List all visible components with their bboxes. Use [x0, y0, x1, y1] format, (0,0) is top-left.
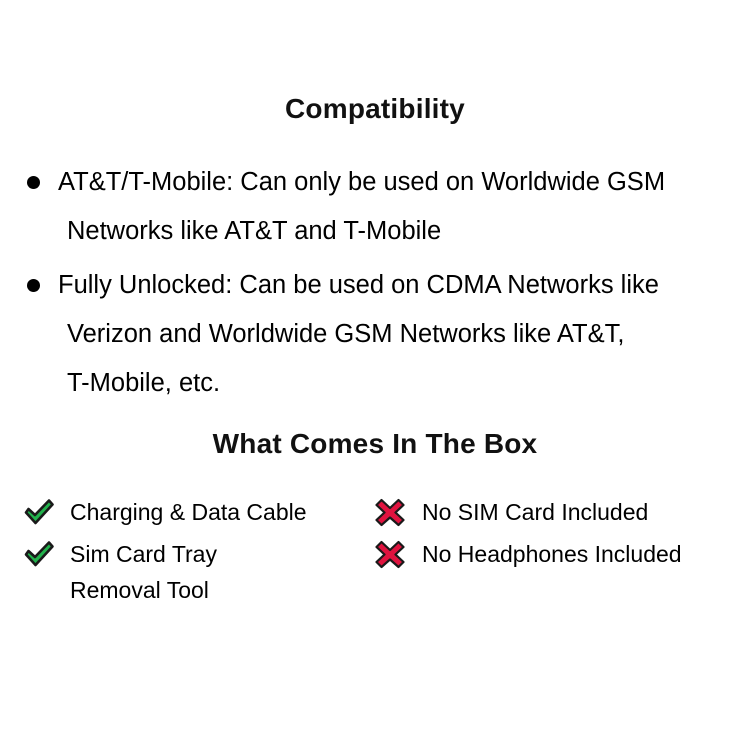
- list-item: Charging & Data Cable: [22, 494, 372, 536]
- compatibility-item-2-line-1: Fully Unlocked: Can be used on CDMA Netw…: [0, 261, 750, 310]
- included-items-column: Charging & Data Cable Sim Card Tray Remo…: [22, 494, 372, 608]
- product-info-panel: Compatibility AT&T/T-Mobile: Can only be…: [0, 0, 750, 750]
- box-contents-heading: What Comes In The Box: [0, 428, 750, 460]
- green-check-icon: [22, 539, 58, 571]
- compatibility-item-2-line-3: T-Mobile, etc.: [0, 359, 750, 408]
- red-cross-icon: [374, 539, 410, 571]
- green-check-icon: [22, 497, 58, 529]
- not-included-item-2-label: No Headphones Included: [422, 536, 750, 572]
- list-item: No SIM Card Included: [374, 494, 750, 536]
- list-item: AT&T/T-Mobile: Can only be used on World…: [0, 158, 750, 256]
- compatibility-list: AT&T/T-Mobile: Can only be used on World…: [0, 158, 750, 413]
- included-item-2-label: Sim Card Tray Removal Tool: [70, 536, 372, 608]
- included-item-1-label: Charging & Data Cable: [70, 494, 372, 530]
- list-item: Fully Unlocked: Can be used on CDMA Netw…: [0, 261, 750, 408]
- list-item: Sim Card Tray Removal Tool: [22, 536, 372, 608]
- not-included-items-column: No SIM Card Included No Headphones Inclu…: [374, 494, 750, 578]
- compatibility-item-2-line-2: Verizon and Worldwide GSM Networks like …: [0, 310, 750, 359]
- filled-circle-bullet-icon: [27, 176, 40, 189]
- filled-circle-bullet-icon: [27, 279, 40, 292]
- compatibility-item-1-line-2: Networks like AT&T and T-Mobile: [0, 207, 750, 256]
- not-included-item-1-label: No SIM Card Included: [422, 494, 750, 530]
- red-cross-icon: [374, 497, 410, 529]
- compatibility-heading: Compatibility: [0, 93, 750, 125]
- list-item: No Headphones Included: [374, 536, 750, 578]
- compatibility-item-1-line-1: AT&T/T-Mobile: Can only be used on World…: [0, 158, 750, 207]
